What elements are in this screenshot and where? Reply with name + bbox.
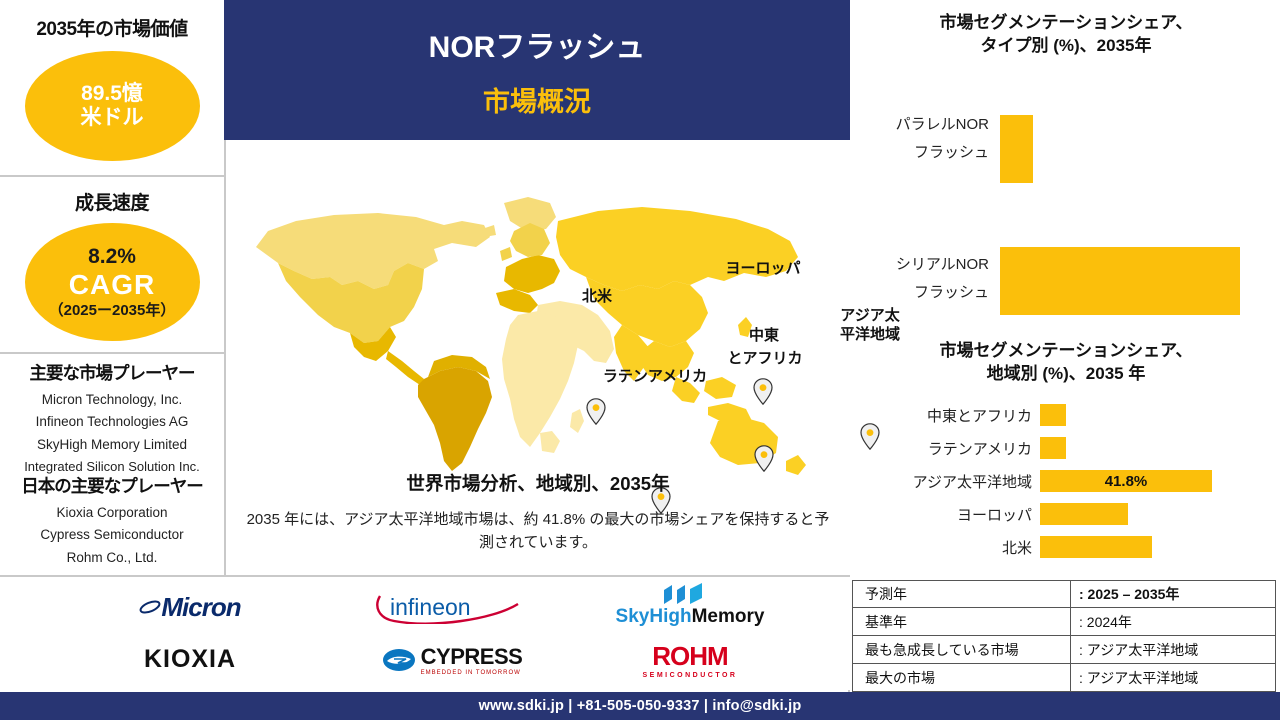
table-row: 最も急成長している市場 : アジア太平洋地域 (852, 636, 1276, 664)
chart-row-europe: ヨーロッパ (852, 501, 1280, 527)
market-value-ellipse: 89.5憶 米ドル (25, 51, 200, 161)
chart-title-region-line1: 市場セグメンテーションシェア、 (852, 340, 1280, 363)
logo-kioxia: KIOXIA (95, 639, 285, 679)
logo-text-rohm: ROHM (652, 641, 727, 672)
logo-text-micron: Micron (161, 592, 240, 623)
bar-label-latam: ラテンアメリカ (852, 438, 1040, 459)
map-label-north-america: 北米 (574, 288, 620, 305)
growth-cagr-label: CAGR (69, 269, 155, 301)
bar-label-mea: 中東とアフリカ (852, 405, 1040, 426)
logo-text-skyhigh: SkyHigh (616, 606, 692, 627)
map-footer-title: 世界市場分析、地域別、2035年 (226, 470, 850, 496)
chart-title-type-line2: タイプ別 (%)、2035年 (852, 35, 1280, 58)
bar-value-apac: 41.8% (1105, 473, 1148, 490)
chart-market-segmentation-by-region: 市場セグメンテーションシェア、 地域別 (%)、2035 年 中東とアフリカ ラ… (852, 340, 1280, 578)
logo-cypress: CYPRESS EMBEDDED IN TOMORROW (352, 639, 552, 681)
page-title-banner: NORフラッシュ 市場概況 (224, 0, 850, 140)
table-cell-key: 最大の市場 (853, 664, 1071, 691)
footer-contact-text: www.sdki.jp | +81-505-050-9337 | info@sd… (479, 698, 802, 714)
growth-title: 成長速度 (0, 188, 224, 215)
bar-label-parallel-nor-line1: パラレルNOR (852, 115, 989, 135)
chart-market-segmentation-by-type: 市場セグメンテーションシェア、 タイプ別 (%)、2035年 パラレルNOR フ… (852, 12, 1280, 332)
chart-row-latam: ラテンアメリカ (852, 435, 1280, 461)
page-title: NORフラッシュ (429, 22, 646, 66)
japan-players-list: Kioxia Corporation Cypress Semiconductor… (0, 502, 224, 569)
logo-text-cypress: CYPRESS (421, 644, 523, 670)
table-cell-key: 最も急成長している市場 (853, 636, 1071, 663)
infographic-root: 2035年の市場価値 89.5憶 米ドル 成長速度 8.2% CAGR （202… (0, 0, 1280, 720)
table-cell-value: : 2024年 (1071, 608, 1275, 635)
chart-row-mea: 中東とアフリカ (852, 402, 1280, 428)
world-map-panel: 北米 ヨーロッパ アジア太 平洋地域 中東 とアフリカ ラテンアメリカ 世界市場… (226, 140, 850, 575)
divider-1 (0, 175, 224, 177)
chart-title-type-line1: 市場セグメンテーションシェア、 (852, 12, 1280, 35)
japan-players-block: 日本の主要なプレーヤー Kioxia Corporation Cypress S… (0, 473, 224, 569)
map-footer-body: 2035 年には、アジア太平洋地域市場は、約 41.8% の最大の市場シェアを保… (244, 508, 832, 555)
table-row: 最大の市場 : アジア太平洋地域 (852, 664, 1276, 692)
bar-north-america (1040, 536, 1152, 558)
bar-label-europe: ヨーロッパ (852, 504, 1040, 525)
logo-tagline-rohm: SEMICONDUCTOR (643, 672, 738, 679)
list-item: SkyHigh Memory Limited (0, 434, 224, 456)
map-label-mea-line2: とアフリカ (711, 350, 819, 367)
charts-column: 市場セグメンテーションシェア、 タイプ別 (%)、2035年 パラレルNOR フ… (852, 0, 1280, 578)
page-subtitle: 市場概況 (483, 80, 591, 119)
list-item: Cypress Semiconductor (0, 524, 224, 546)
map-label-latin-america: ラテンアメリカ (581, 368, 729, 385)
infineon-arc-icon: infineon (372, 590, 522, 624)
divider-2 (0, 352, 224, 354)
bar-label-apac: アジア太平洋地域 (852, 471, 1040, 492)
map-label-europe: ヨーロッパ (713, 260, 813, 277)
bar-serial-nor (1000, 247, 1240, 315)
bar-label-serial-nor-line2: フラッシュ (852, 283, 989, 303)
map-pin-icon (586, 398, 606, 425)
map-label-mea-line1: 中東 (736, 327, 792, 344)
bar-label-serial-nor-line1: シリアルNOR (852, 255, 989, 275)
facts-table: 予測年 : 2025 – 2035年 基準年 : 2024年 最も急成長している… (852, 580, 1276, 692)
chart-title-type: 市場セグメンテーションシェア、 タイプ別 (%)、2035年 (852, 12, 1280, 58)
bar-mea (1040, 404, 1066, 426)
table-row: 予測年 : 2025 – 2035年 (852, 580, 1276, 608)
key-players-list: Micron Technology, Inc. Infineon Technol… (0, 389, 224, 477)
logo-infineon: infineon (352, 587, 542, 627)
table-cell-key: 基準年 (853, 608, 1071, 635)
chart-title-region-line2: 地域別 (%)、2035 年 (852, 363, 1280, 386)
key-players-block: 主要な市場プレーヤー Micron Technology, Inc. Infin… (0, 360, 224, 477)
japan-players-title: 日本の主要なプレーヤー (0, 473, 224, 498)
logo-text-kioxia: KIOXIA (144, 645, 236, 674)
footer-bar: www.sdki.jp | +81-505-050-9337 | info@sd… (0, 692, 1280, 720)
table-cell-value: : 2025 – 2035年 (1071, 581, 1275, 607)
table-cell-value: : アジア太平洋地域 (1071, 636, 1275, 663)
key-players-title: 主要な市場プレーヤー (0, 360, 224, 385)
chart-row-north-america: 北米 (852, 534, 1280, 560)
sidebar: 2035年の市場価値 89.5憶 米ドル 成長速度 8.2% CAGR （202… (0, 0, 224, 575)
table-cell-key: 予測年 (853, 581, 1071, 607)
list-item: Infineon Technologies AG (0, 411, 224, 433)
market-value-title: 2035年の市場価値 (0, 14, 224, 41)
logo-micron: Micron (95, 587, 285, 627)
growth-rate: 8.2% (88, 245, 136, 269)
bar-label-parallel-nor-line2: フラッシュ (852, 143, 989, 163)
table-row: 基準年 : 2024年 (852, 608, 1276, 636)
bar-parallel-nor (1000, 115, 1033, 183)
chart-row-apac: アジア太平洋地域 41.8% (852, 468, 1280, 494)
map-pin-icon (754, 445, 774, 472)
bar-latam (1040, 437, 1066, 459)
growth-ellipse: 8.2% CAGR （2025ー2035年） (25, 223, 200, 341)
bar-europe (1040, 503, 1128, 525)
logo-tagline-cypress: EMBEDDED IN TOMORROW (421, 670, 521, 676)
svg-text:infineon: infineon (390, 594, 471, 620)
cypress-mark-icon (382, 646, 416, 674)
list-item: Rohm Co., Ltd. (0, 547, 224, 569)
bar-apac: 41.8% (1040, 470, 1212, 492)
logo-skyhigh-memory: SkyHighMemory (590, 581, 790, 629)
chart-title-region: 市場セグメンテーションシェア、 地域別 (%)、2035 年 (852, 340, 1280, 386)
map-pin-icon (753, 378, 773, 405)
market-value-line1: 89.5憶 (81, 82, 143, 106)
list-item: Kioxia Corporation (0, 502, 224, 524)
bar-label-north-america: 北米 (852, 537, 1040, 558)
table-cell-value: : アジア太平洋地域 (1071, 664, 1275, 691)
list-item: Micron Technology, Inc. (0, 389, 224, 411)
micron-swoosh-icon (139, 596, 161, 618)
logo-rohm: ROHM SEMICONDUCTOR (590, 639, 790, 681)
skyhigh-bars-icon (660, 583, 720, 605)
growth-period: （2025ー2035年） (49, 302, 176, 319)
logo-text-memory: Memory (692, 606, 765, 627)
growth-block: 成長速度 8.2% CAGR （2025ー2035年） (0, 188, 224, 341)
logo-strip: Micron infineon SkyHighMemory KIOXIA (0, 577, 850, 690)
market-value-line2: 米ドル (81, 106, 144, 130)
market-value-block: 2035年の市場価値 89.5憶 米ドル (0, 14, 224, 161)
